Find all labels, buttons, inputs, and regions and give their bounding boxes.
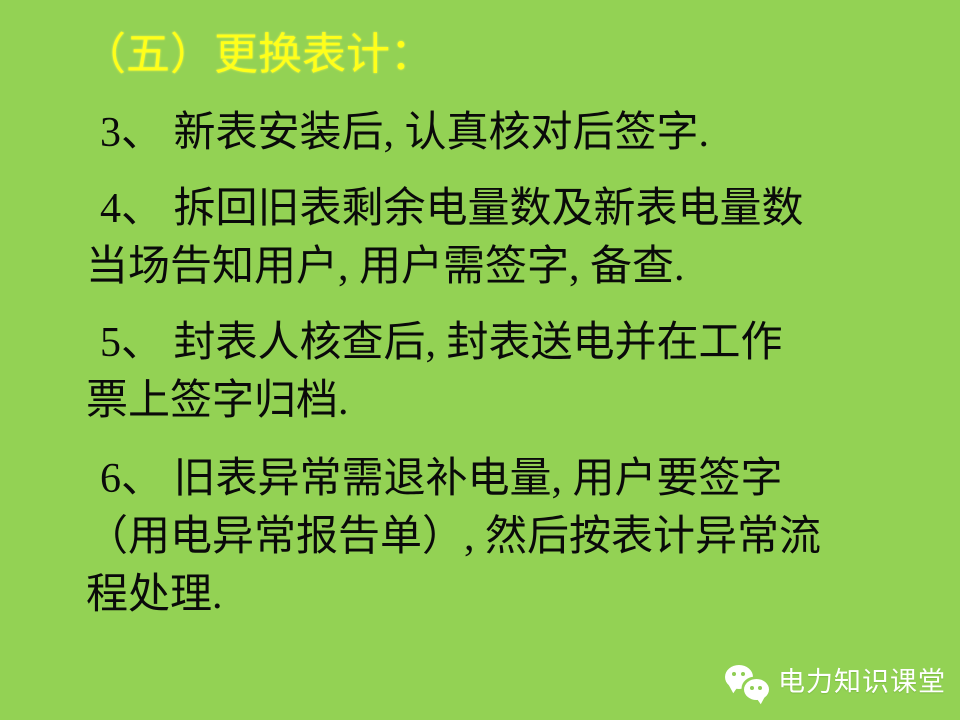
list-item: 5、 封表人核查后, 封表送电并在工作 票上签字归档. (86, 314, 922, 430)
watermark-label: 电力知识课堂 (778, 667, 946, 697)
list-item: 6、 旧表异常需退补电量, 用户要签字 （用电异常报告单）, 然后按表计异常流 … (86, 450, 922, 624)
list-item: 4、 拆回旧表剩余电量数及新表电量数 当场告知用户, 用户需签字, 备查. (86, 180, 922, 296)
page-title: （五）更换表计： (82, 26, 434, 84)
slide-canvas: （五）更换表计： 3、 新表安装后, 认真核对后签字. 4、 拆回旧表剩余电量数… (0, 0, 960, 720)
wechat-bubble-front-icon (744, 679, 769, 700)
wechat-icon (725, 664, 769, 700)
list-item-line: 程处理. (86, 566, 922, 624)
list-item-line: 3、 新表安装后, 认真核对后签字. (86, 104, 922, 162)
list-item-line: 票上签字归档. (86, 372, 922, 430)
wechat-bubble-front-eye-left (750, 686, 754, 690)
list-item-line: 6、 旧表异常需退补电量, 用户要签字 (86, 450, 922, 508)
body-content-list: 3、 新表安装后, 认真核对后签字. 4、 拆回旧表剩余电量数及新表电量数 当场… (86, 104, 922, 624)
list-item-line: （用电异常报告单）, 然后按表计异常流 (86, 508, 922, 566)
wechat-bubble-back-eye-left (732, 672, 736, 676)
wechat-bubble-back-eye-right (741, 672, 745, 676)
list-item-line: 4、 拆回旧表剩余电量数及新表电量数 (86, 180, 922, 238)
list-item-line: 5、 封表人核查后, 封表送电并在工作 (86, 314, 922, 372)
list-item-line: 当场告知用户, 用户需签字, 备查. (86, 238, 922, 296)
wechat-bubble-front-eye-right (758, 686, 762, 690)
list-item: 3、 新表安装后, 认真核对后签字. (86, 104, 922, 162)
watermark: 电力知识课堂 (725, 662, 946, 702)
